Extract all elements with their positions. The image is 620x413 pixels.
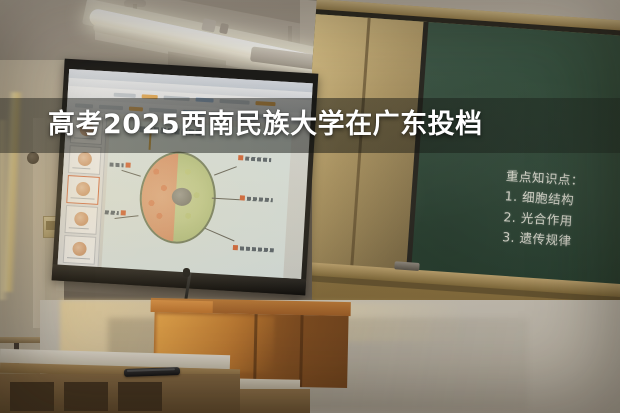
thumbnail-caption bbox=[69, 227, 89, 229]
leader-line bbox=[214, 166, 237, 175]
desk-compartment bbox=[64, 382, 108, 411]
diagram-label bbox=[109, 162, 130, 168]
light-cap bbox=[201, 18, 216, 32]
thumbnail-caption bbox=[72, 167, 90, 169]
chalkboard: 重点知识点： 1. 细胞结构 2. 光合作用 3. 遗传规律 bbox=[312, 0, 620, 330]
label-text bbox=[247, 196, 273, 202]
thumbnail-cell-icon bbox=[74, 212, 89, 227]
thumbnail-cell-icon bbox=[72, 241, 87, 256]
chalkboard-frame bbox=[312, 0, 620, 320]
thumbnail-caption bbox=[71, 197, 95, 199]
front-desk-front bbox=[0, 374, 240, 413]
diagram-label bbox=[233, 245, 274, 252]
label-text bbox=[105, 210, 119, 215]
label-text bbox=[110, 162, 124, 167]
chalkboard-notes: 重点知识点： 1. 细胞结构 2. 光合作用 3. 遗传规律 bbox=[502, 166, 620, 254]
cell-diagram bbox=[137, 149, 218, 245]
desk-compartment bbox=[10, 382, 54, 411]
wall-speaker bbox=[27, 152, 39, 164]
desk-compartment bbox=[118, 382, 162, 411]
label-marker bbox=[238, 155, 243, 160]
projection-screen bbox=[52, 59, 319, 296]
diagram-label bbox=[105, 209, 126, 215]
remote-highlight bbox=[127, 368, 175, 372]
thumbnail-cell-icon bbox=[77, 152, 92, 167]
diagram-label bbox=[238, 155, 271, 162]
microphone-head bbox=[183, 268, 190, 277]
diagram-label bbox=[240, 195, 273, 202]
leader-line bbox=[212, 198, 240, 201]
label-marker bbox=[240, 195, 245, 200]
headline-text: 高考2025西南民族大学在广东投档 bbox=[48, 102, 608, 148]
slide-thumbnail[interactable] bbox=[63, 235, 97, 265]
classroom-screenshot: 重点知识点： 1. 细胞结构 2. 光合作用 3. 遗传规律 bbox=[0, 0, 620, 413]
leader-line bbox=[115, 215, 139, 219]
label-text bbox=[245, 156, 271, 162]
slide-thumbnail-selected[interactable] bbox=[66, 175, 100, 205]
leader-line bbox=[121, 170, 140, 177]
label-marker bbox=[125, 162, 130, 167]
slide-thumbnail[interactable] bbox=[64, 205, 98, 235]
label-text bbox=[240, 246, 274, 252]
label-marker bbox=[121, 210, 126, 215]
chalkboard-eraser bbox=[394, 261, 419, 271]
thumbnail-cell-icon bbox=[76, 182, 91, 197]
thumbnail-caption bbox=[67, 257, 90, 259]
label-marker bbox=[233, 245, 238, 250]
